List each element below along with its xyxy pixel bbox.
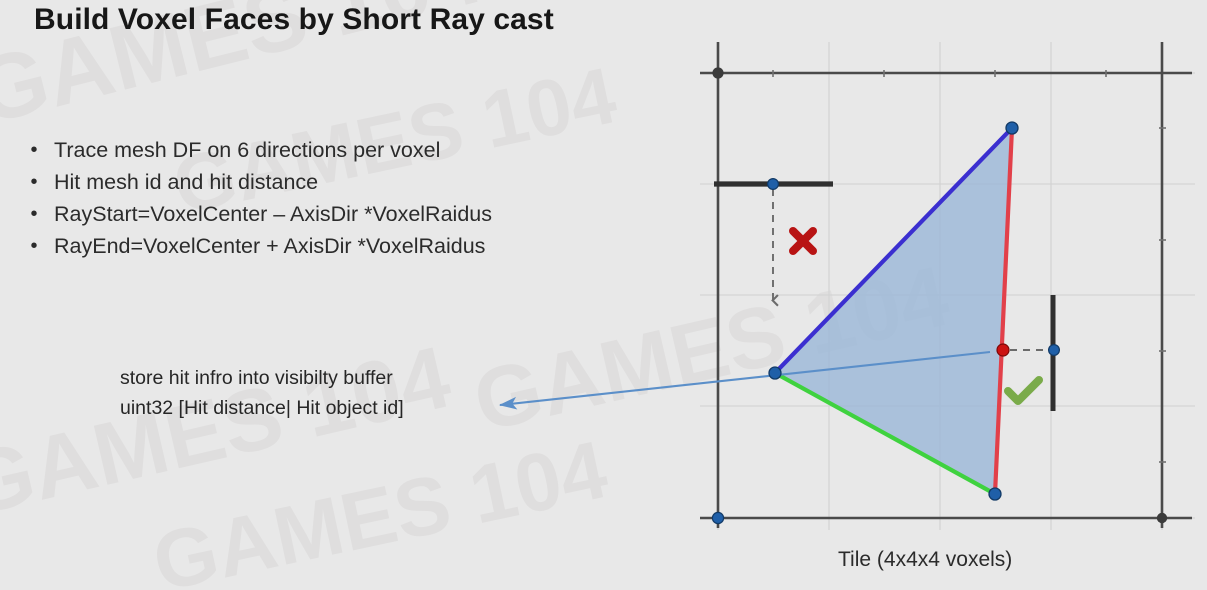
bullet-marker-icon: • <box>14 200 54 228</box>
slide-canvas: GAMES 104 GAMES 104 GAMES 104 GAMES 104 … <box>0 0 1207 590</box>
bullet-item: • Hit mesh id and hit distance <box>14 168 664 200</box>
triangle-edge-red <box>995 128 1012 494</box>
bullet-label: Trace mesh DF on 6 directions per voxel <box>54 136 440 164</box>
bullet-marker-icon: • <box>14 232 54 260</box>
vertex-points <box>712 67 1167 523</box>
voxel-raycast-diagram <box>0 0 1207 590</box>
tile-axes <box>700 42 1192 528</box>
visibility-buffer-annotation: store hit infro into visibilty buffer ui… <box>120 363 404 423</box>
diagram-caption: Tile (4x4x4 voxels) <box>838 548 1012 572</box>
voxel-center-hit-point <box>1049 345 1060 356</box>
axis-ticks <box>773 70 1166 462</box>
tile-corner-bottom-left <box>712 512 723 523</box>
slide-title: Build Voxel Faces by Short Ray cast <box>34 3 554 37</box>
watermark-3: GAMES 104 <box>465 247 958 452</box>
mesh-triangle <box>775 128 1012 494</box>
bullet-marker-icon: • <box>14 168 54 196</box>
hit-check-icon <box>1008 380 1039 401</box>
miss-cross-icon <box>793 231 813 251</box>
bullet-list: • Trace mesh DF on 6 directions per voxe… <box>14 136 664 264</box>
bullet-item: • Trace mesh DF on 6 directions per voxe… <box>14 136 664 168</box>
bullet-label: RayEnd=VoxelCenter + AxisDir *VoxelRaidu… <box>54 232 485 260</box>
bullet-label: RayStart=VoxelCenter – AxisDir *VoxelRai… <box>54 200 492 228</box>
visibility-buffer-callout-arrow <box>500 352 990 405</box>
tile-corner-top-left <box>712 67 723 78</box>
bullet-marker-icon: • <box>14 136 54 164</box>
vertex-apex-bottom <box>989 488 1001 500</box>
bullet-item: • RayEnd=VoxelCenter + AxisDir *VoxelRai… <box>14 232 664 264</box>
mesh-hit-point <box>997 344 1009 356</box>
vertex-apex-left <box>769 367 781 379</box>
watermark-4: GAMES 104 <box>0 326 459 537</box>
bullet-label: Hit mesh id and hit distance <box>54 168 318 196</box>
watermark-5: GAMES 104 <box>145 423 615 590</box>
bullet-item: • RayStart=VoxelCenter – AxisDir *VoxelR… <box>14 200 664 232</box>
voxel-center-miss-point <box>768 179 779 190</box>
triangle-edge-green <box>775 373 995 494</box>
triangle-edge-blue <box>775 128 1012 373</box>
tile-corner-bottom-right <box>1157 513 1167 523</box>
annotation-line-1: store hit infro into visibilty buffer <box>120 363 404 393</box>
annotation-line-2: uint32 [Hit distance| Hit object id] <box>120 393 404 423</box>
vertex-apex-top <box>1006 122 1018 134</box>
grid-lines <box>700 42 1195 530</box>
